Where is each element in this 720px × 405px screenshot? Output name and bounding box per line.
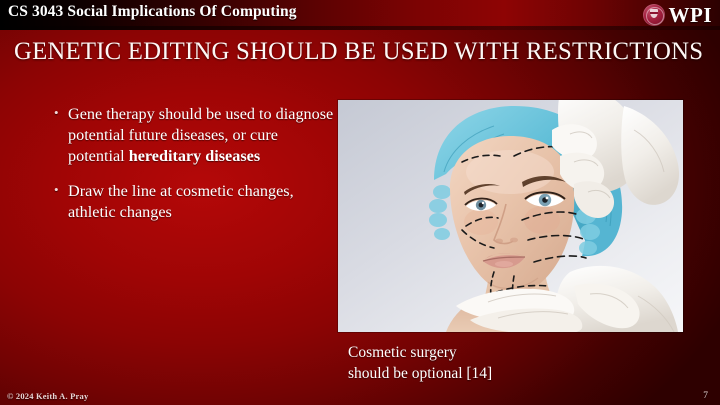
photo-caption-line-1: Cosmetic surgery (348, 343, 648, 364)
bullet-item: • Draw the line at cosmetic changes, ath… (54, 181, 334, 223)
photo-caption: Cosmetic surgery should be optional [14] (348, 343, 648, 384)
bullet-text: Gene therapy should be used to diagnose … (68, 104, 334, 167)
photo-illustration (338, 100, 683, 332)
footer-page-number: 7 (703, 391, 708, 401)
bullet-list: • Gene therapy should be used to diagnos… (54, 104, 334, 236)
wpi-seal-bar (650, 12, 658, 14)
wpi-seal-icon (643, 4, 665, 26)
bullet-marker-icon: • (54, 181, 68, 199)
course-title: CS 3043 Social Implications Of Computing (8, 3, 297, 21)
bullet-text: Draw the line at cosmetic changes, athle… (68, 181, 334, 223)
cosmetic-surgery-photo (338, 100, 683, 332)
slide-title: GENETIC EDITING SHOULD BE USED WITH REST… (14, 38, 704, 65)
photo-caption-line-2: should be optional [14] (348, 364, 648, 385)
bullet-item: • Gene therapy should be used to diagnos… (54, 104, 334, 167)
wpi-logo: WPI (643, 2, 713, 28)
wpi-wordmark: WPI (669, 5, 713, 26)
footer-copyright: © 2024 Keith A. Pray (7, 391, 88, 401)
slide-canvas: CS 3043 Social Implications Of Computing… (0, 0, 720, 405)
bullet-marker-icon: • (54, 104, 68, 122)
slide-header-bar: CS 3043 Social Implications Of Computing… (0, 0, 720, 30)
